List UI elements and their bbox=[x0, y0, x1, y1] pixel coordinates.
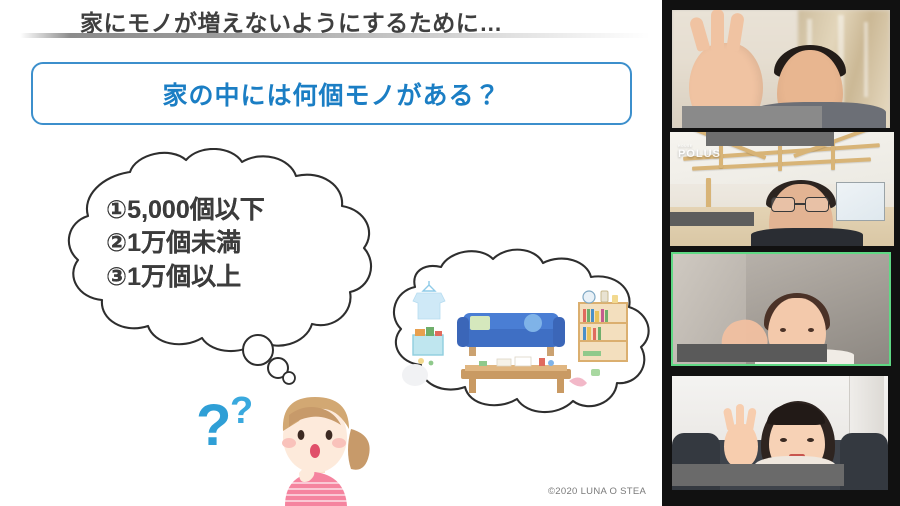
blue-sofa-icon bbox=[457, 313, 565, 356]
thinking-woman-illustration bbox=[255, 385, 380, 506]
participant-video-feed-active-speaker bbox=[671, 252, 891, 366]
question-box: 家の中には何個モノがある？ bbox=[31, 62, 632, 125]
option-item-2: ②1万個未満 bbox=[106, 227, 265, 260]
glasses-icon bbox=[771, 197, 829, 212]
title-divider bbox=[20, 33, 650, 38]
coffee-table-icon bbox=[461, 357, 571, 393]
presentation-slide: 家にモノが増えないようにするために… 家の中には何個モノがある？ ①5,000個… bbox=[0, 0, 662, 506]
video-participants-panel: HOUSE POLUS bbox=[662, 0, 900, 506]
thought-bubble-trail-icon bbox=[236, 328, 306, 388]
screen-root: 家にモノが増えないようにするために… 家の中には何個モノがある？ ①5,000個… bbox=[0, 0, 900, 506]
small-block-icon bbox=[591, 369, 600, 376]
three-fingers-hand bbox=[724, 424, 758, 466]
participant-video-feed bbox=[672, 10, 890, 128]
participant-tile-4[interactable] bbox=[662, 372, 900, 506]
toy-box-icon bbox=[413, 327, 443, 365]
room-items-illustration bbox=[393, 277, 633, 397]
copyright-notice: ©2020 LUNA O STEA bbox=[548, 486, 646, 497]
beanbag-icon bbox=[402, 364, 428, 386]
hidden-participant-name bbox=[672, 464, 844, 486]
bookshelf-icon bbox=[579, 291, 627, 361]
plush-toy-icon bbox=[569, 377, 587, 386]
polus-watermark: HOUSE POLUS bbox=[678, 144, 721, 160]
option-item-1: ①5,000個以下 bbox=[106, 194, 265, 227]
hidden-participant-name bbox=[706, 132, 834, 146]
room-thought-bubble bbox=[345, 245, 662, 425]
svg-text:?: ? bbox=[230, 390, 253, 432]
participant-tile-2[interactable]: HOUSE POLUS bbox=[662, 128, 900, 250]
svg-text:?: ? bbox=[196, 393, 231, 458]
hidden-participant-name bbox=[677, 344, 827, 362]
option-item-3: ③1万個以上 bbox=[106, 261, 265, 294]
question-box-label: 家の中には何個モノがある？ bbox=[162, 76, 500, 112]
participant-torso bbox=[751, 228, 863, 246]
hidden-participant-name bbox=[682, 106, 822, 128]
participant-tile-1[interactable] bbox=[662, 0, 900, 128]
options-list: ①5,000個以下 ②1万個未満 ③1万個以上 bbox=[106, 194, 265, 294]
options-thought-bubble: ①5,000個以下 ②1万個未満 ③1万個以上 bbox=[18, 148, 393, 363]
participant-video-feed bbox=[672, 376, 888, 490]
hanging-shirt-icon bbox=[413, 281, 445, 319]
hidden-participant-name bbox=[670, 212, 754, 226]
participant-video-feed: HOUSE POLUS bbox=[670, 132, 894, 246]
participant-tile-3[interactable] bbox=[662, 250, 900, 372]
